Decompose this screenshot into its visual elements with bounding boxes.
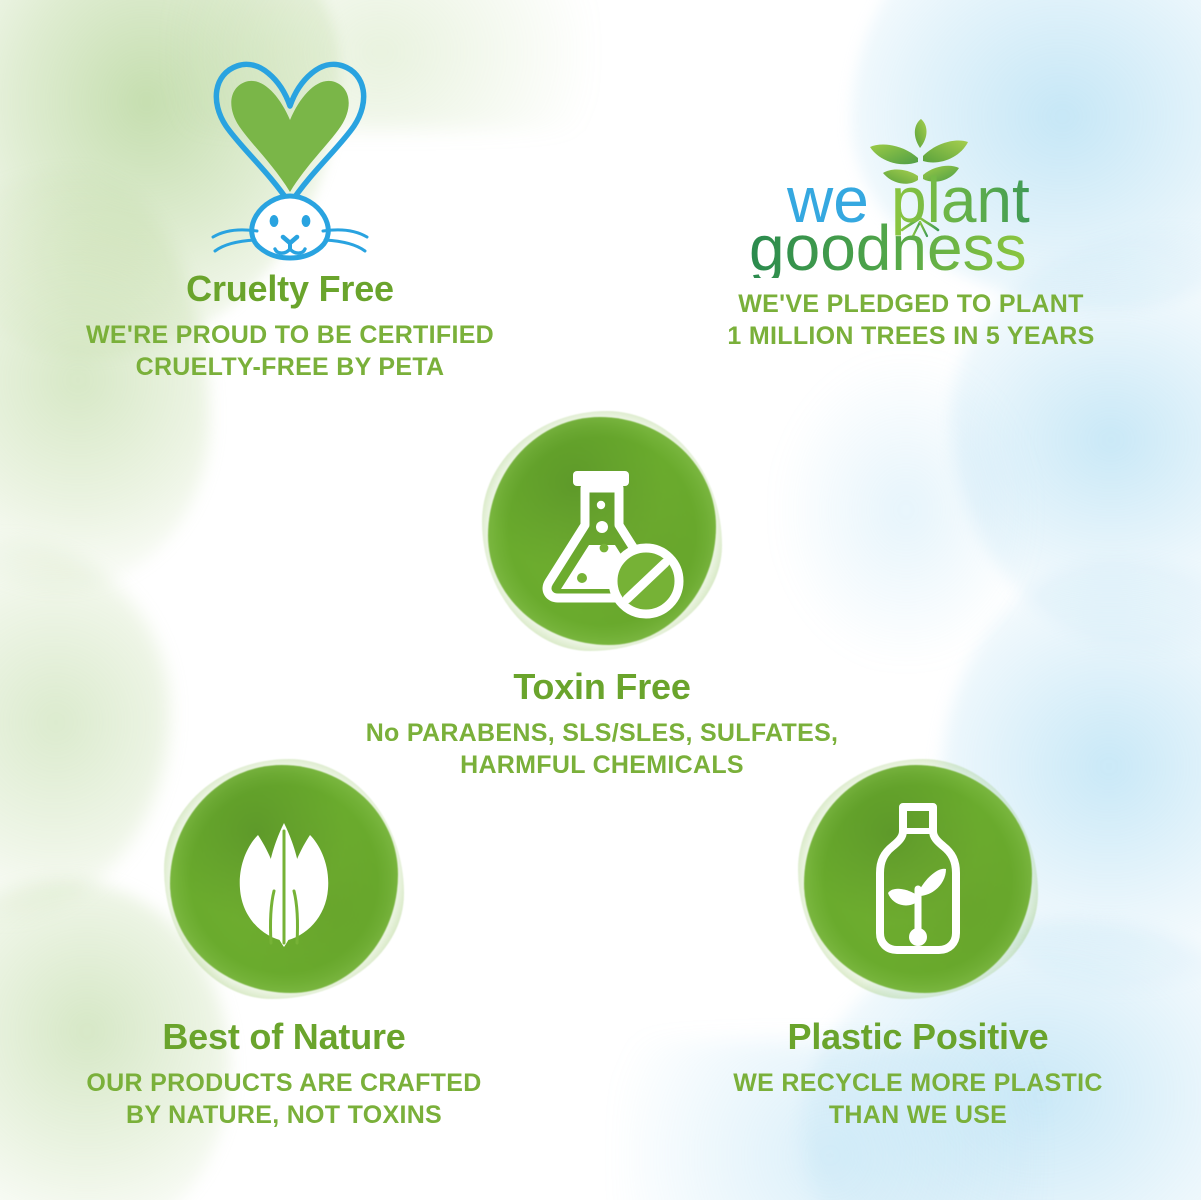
badge-plastic-positive: Plastic Positive WE RECYCLE MORE PLASTIC… [652,765,1184,1131]
badge-description-line-2: 1 MILLION TREES IN 5 YEARS [727,322,1094,350]
badge-description-line-2: THAN WE USE [829,1101,1007,1129]
badge-description-line-2: CRUELTY-FREE BY PETA [136,353,445,381]
badge-description: WE RECYCLE MORE PLASTIC THAN WE USE [652,1067,1184,1131]
badge-description-line-1: WE'RE PROUD TO BE CERTIFIED [86,321,494,349]
badge-title: Toxin Free [336,667,868,707]
badge-title: Plastic Positive [652,1017,1184,1057]
badge-cruelty-free: Cruelty Free WE'RE PROUD TO BE CERTIFIED… [24,44,556,383]
brand-values-poster: Cruelty Free WE'RE PROUD TO BE CERTIFIED… [0,0,1201,1200]
badge-description: WE'VE PLEDGED TO PLANT 1 MILLION TREES I… [645,288,1177,352]
badge-description-line-1: WE RECYCLE MORE PLASTIC [733,1069,1102,1097]
peta-cruelty-free-bunny-logo [195,44,385,269]
badge-description: OUR PRODUCTS ARE CRAFTED BY NATURE, NOT … [18,1067,550,1131]
badge-description: WE'RE PROUD TO BE CERTIFIED CRUELTY-FREE… [24,319,556,383]
badge-description-line-1: OUR PRODUCTS ARE CRAFTED [86,1069,481,1097]
badge-description-line-1: WE'VE PLEDGED TO PLANT [738,290,1083,318]
bottle-sprout-icon [804,765,1032,993]
best-of-nature-disc [170,765,398,993]
badge-title: Cruelty Free [24,269,556,309]
badge-description-line-1: No PARABENS, SLS/SLES, SULFATES, [366,719,839,747]
badge-best-of-nature: Best of Nature OUR PRODUCTS ARE CRAFTED … [18,765,550,1131]
badge-description-line-2: BY NATURE, NOT TOXINS [126,1101,442,1129]
flask-no-toxins-icon [488,417,716,645]
we-plant-goodness-logo: we plant goodness [739,118,1084,278]
leaves-icon [170,765,398,993]
plastic-positive-disc [804,765,1032,993]
logo-word-goodness: goodness [749,212,1027,278]
toxin-free-disc [488,417,716,645]
badge-toxin-free: Toxin Free No PARABENS, SLS/SLES, SULFAT… [336,417,868,781]
badge-we-plant-goodness: we plant goodness WE'VE PLEDGED TO PLANT… [645,118,1177,352]
badge-title: Best of Nature [18,1017,550,1057]
